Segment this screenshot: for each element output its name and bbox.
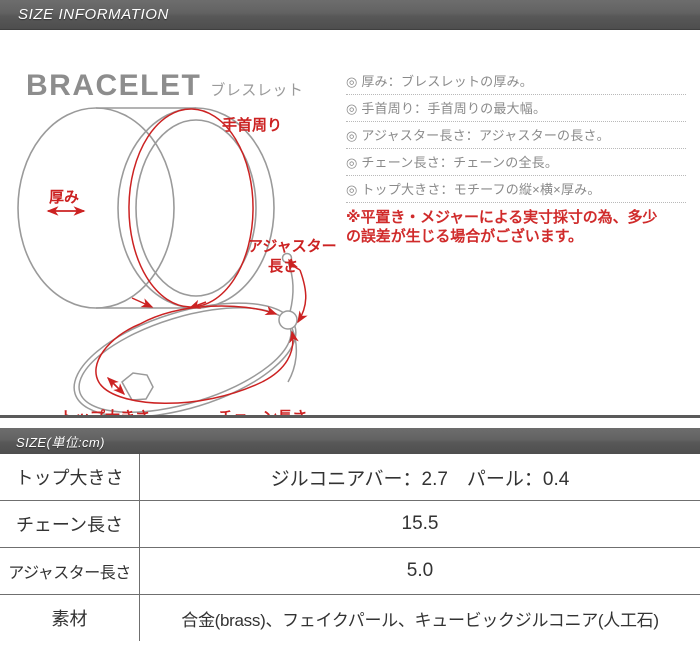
row-label: アジャスター長さ (0, 548, 140, 595)
table-row: トップ大きさ ジルコニアバー：2.7 パール：0.4 (0, 454, 700, 501)
row-value: 5.0 (140, 548, 700, 595)
row-label: 素材 (0, 595, 140, 642)
legend-item: ◎ チェーン長さ：チェーンの全長。 (346, 149, 686, 176)
size-information-header: SIZE INFORMATION (0, 0, 700, 30)
row-value: 合金(brass)、フェイクパール、キュービックジルコニア(人工石) (140, 595, 700, 642)
size-information-title: SIZE INFORMATION (0, 6, 169, 23)
adjuster-label-line2: 長さ (268, 258, 298, 275)
wrist-measure-arrows (132, 298, 206, 308)
row-value: ジルコニアバー：2.7 パール：0.4 (140, 454, 700, 501)
size-table-header: SIZE(単位:cm) (0, 428, 700, 454)
table-row: チェーン長さ 15.5 (0, 501, 700, 548)
row-value: 15.5 (140, 501, 700, 548)
legend-list: ◎ 厚み：ブレスレットの厚み。 ◎ 手首周り：手首周りの最大幅。 ◎ アジャスタ… (346, 70, 686, 246)
size-table: トップ大きさ ジルコニアバー：2.7 パール：0.4 チェーン長さ 15.5 ア… (0, 454, 700, 641)
adjuster-label-line1: アジャスター (248, 238, 337, 255)
wrist-label: 手首周り (222, 116, 282, 134)
legend-item: ◎ 手首周り：手首周りの最大幅。 (346, 95, 686, 122)
top-size-label: トップ大きさ (60, 408, 150, 418)
top-size-measure (108, 378, 124, 394)
legend-item: ◎ トップ大きさ：モチーフの縦×横×厚み。 (346, 176, 686, 203)
row-label: トップ大きさ (0, 454, 140, 501)
thickness-label: 厚み (49, 189, 79, 206)
size-table-title: SIZE(単位:cm) (0, 432, 105, 451)
disclaimer-line-2: の誤差が生じる場合がございます。 (346, 227, 686, 246)
legend-item: ◎ 厚み：ブレスレットの厚み。 (346, 70, 686, 95)
chain-illustration (61, 254, 309, 419)
legend-item: ◎ アジャスター長さ：アジャスターの長さ。 (346, 122, 686, 149)
bracelet-diagram: 厚み 手首周り (0, 30, 350, 418)
table-row: アジャスター長さ 5.0 (0, 548, 700, 595)
diagram-panel: BRACELET ブレスレット (0, 30, 700, 418)
row-label: チェーン長さ (0, 501, 140, 548)
disclaimer-line-1: ※平置き・メジャーによる実寸採寸の為、多少 (346, 208, 686, 227)
measurement-disclaimer: ※平置き・メジャーによる実寸採寸の為、多少 の誤差が生じる場合がございます。 (346, 203, 686, 246)
chain-length-label: チェーン長さ (218, 409, 307, 418)
wrist-measure-line (129, 109, 253, 307)
size-section: SIZE(単位:cm) トップ大きさ ジルコニアバー：2.7 パール：0.4 チ… (0, 428, 700, 641)
table-row: 素材 合金(brass)、フェイクパール、キュービックジルコニア(人工石) (0, 595, 700, 642)
size-information-page: SIZE INFORMATION BRACELET ブレスレット (0, 0, 700, 661)
